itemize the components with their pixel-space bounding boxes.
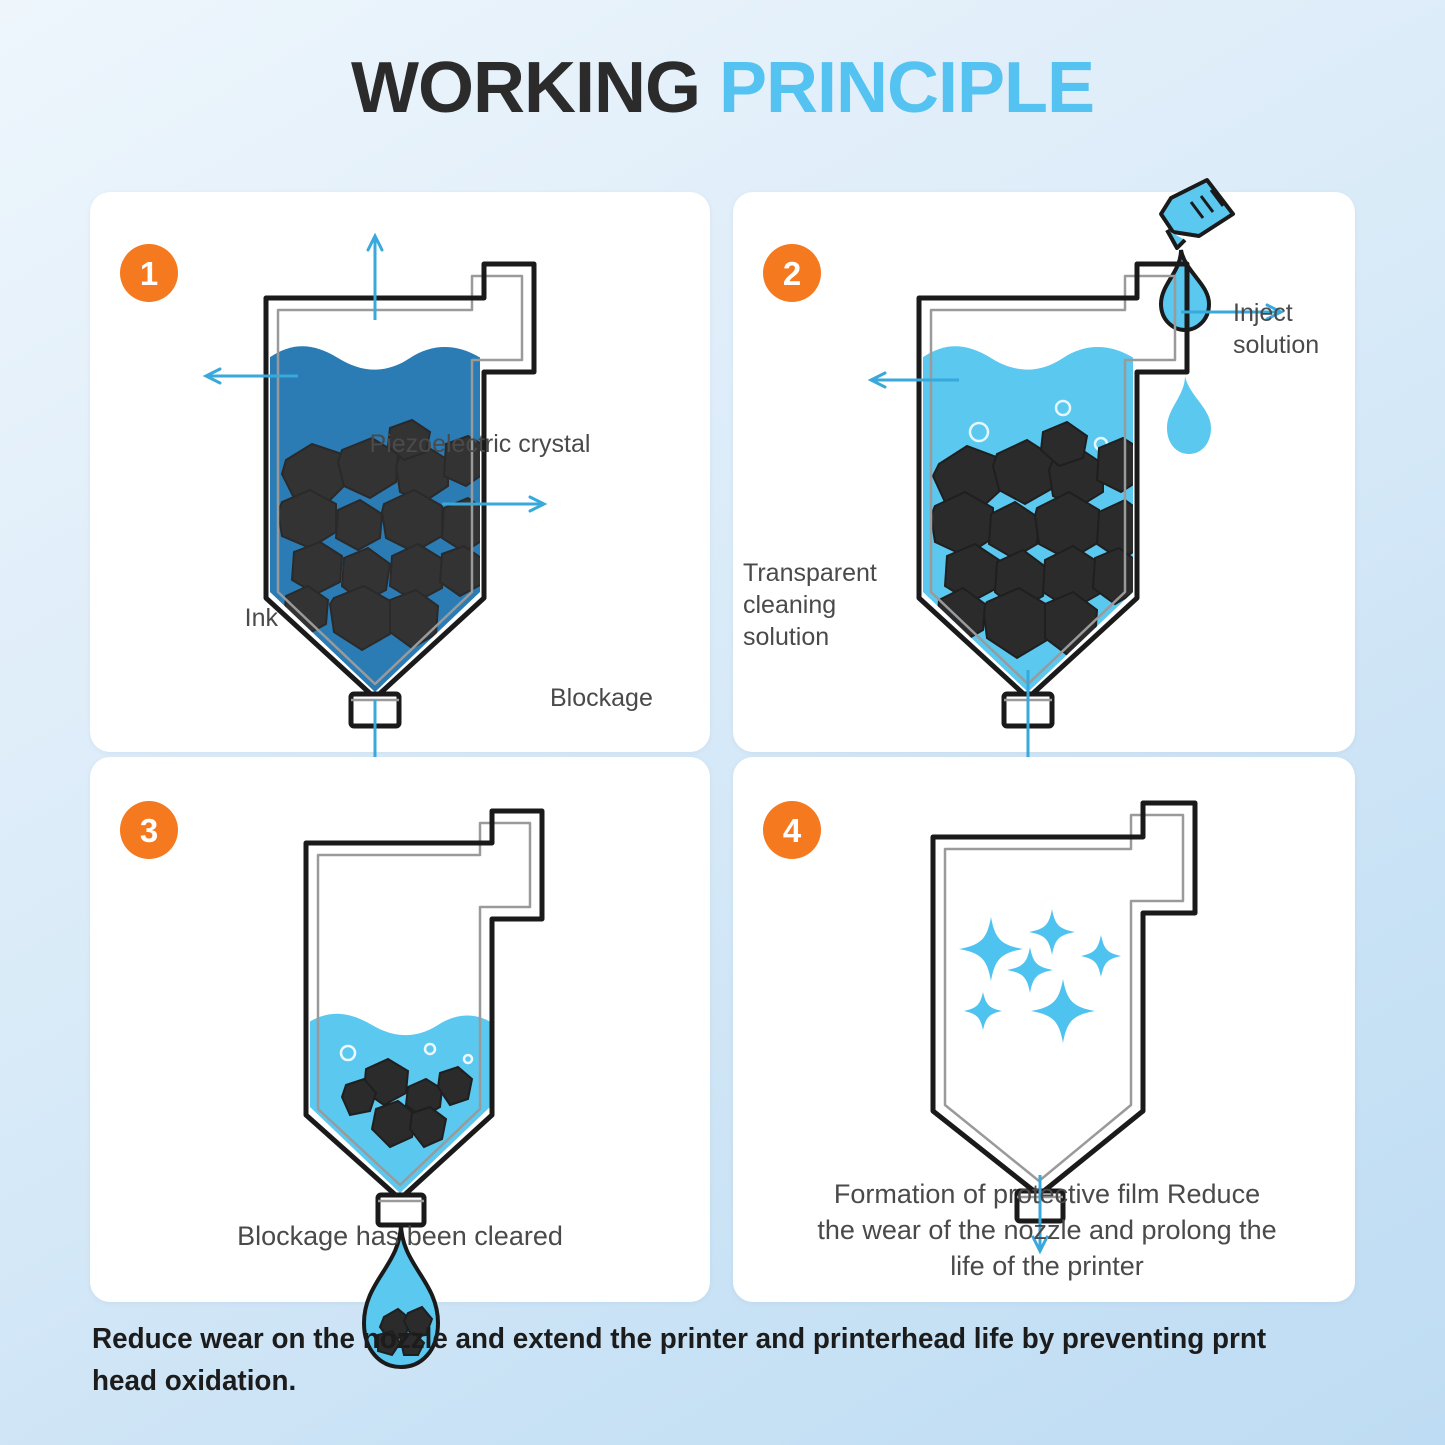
panel-card-3: 3 [90, 757, 710, 1302]
label-ink: Ink [168, 602, 278, 634]
syringe-icon [1161, 180, 1233, 248]
label-transparent-cleaning-solution: Transparent cleaning solution [743, 557, 923, 653]
label-blockage-cleared: Blockage has been cleared [135, 1219, 665, 1254]
sparkle-icon-3 [1007, 947, 1053, 993]
sparkle-icon-2 [1029, 909, 1075, 955]
panel-card-1: 1 [90, 192, 710, 752]
panel-card-4: 4 Formation of protective film Reduce th… [733, 757, 1355, 1302]
sparkle-icon-5 [964, 992, 1002, 1030]
panel-card-2: 2 [733, 192, 1355, 752]
label-protective-film: Formation of protective film Reduce the … [777, 1177, 1317, 1285]
cartridge-diagram-2 [733, 192, 1355, 752]
footer-caption: Reduce wear on the nozzle and extend the… [92, 1318, 1311, 1402]
title-space [700, 48, 719, 128]
injected-droplet-inside [1167, 376, 1211, 454]
title-word-principle: PRINCIPLE [719, 48, 1094, 128]
label-piezoelectric-crystal: Piezoelectric crystal [270, 428, 690, 460]
label-inject-solution: Inject solution [1233, 297, 1413, 361]
page-title: WORKING PRINCIPLE [0, 52, 1445, 124]
sparkle-icon-6 [1031, 979, 1095, 1043]
title-word-working: WORKING [351, 48, 700, 128]
sparkle-icon-4 [1081, 935, 1121, 977]
cartridge-diagram-1 [90, 192, 710, 752]
sparkle-icons [959, 909, 1121, 1043]
